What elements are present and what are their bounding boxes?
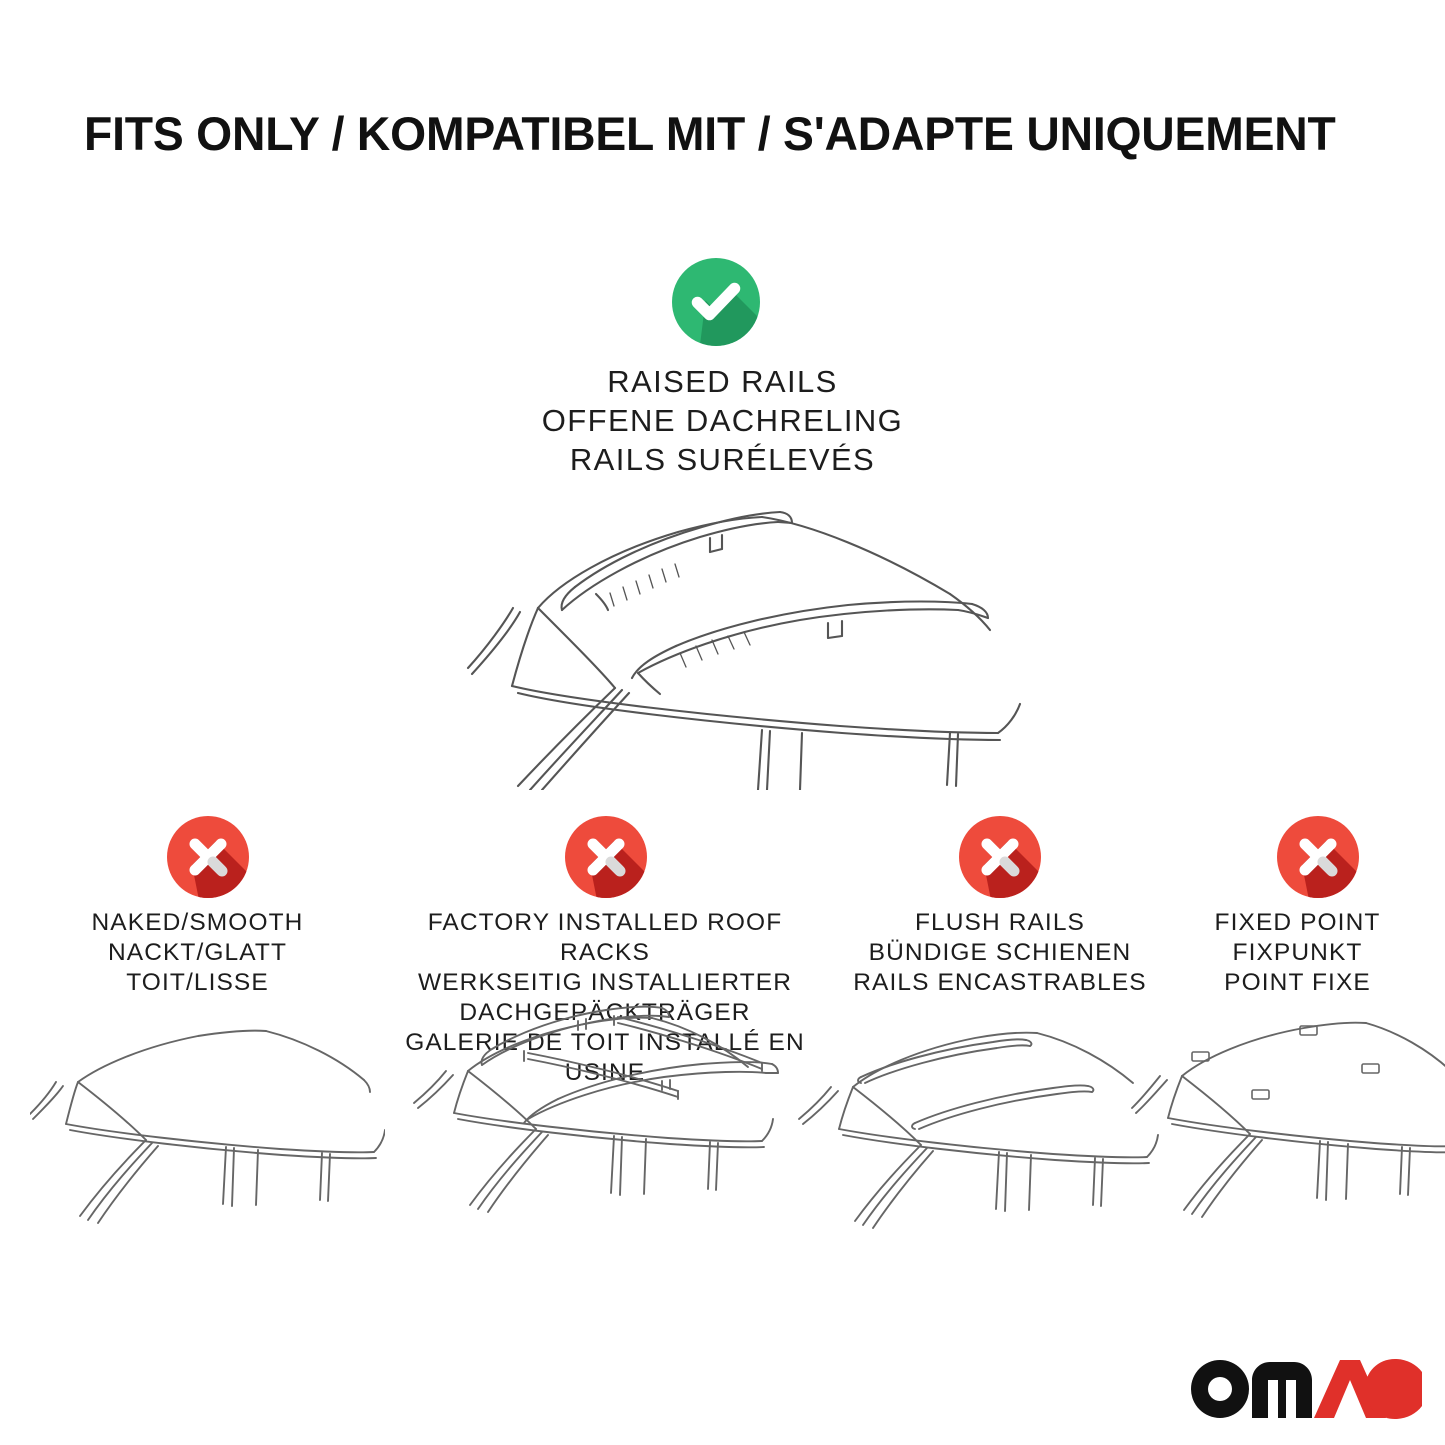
x-circle-icon — [1276, 815, 1360, 899]
x-circle-icon — [958, 815, 1042, 899]
option-label-fr: POINT FIXE — [1160, 968, 1435, 998]
option-label-de-1: WERKSEITIG INSTALLIERTER — [385, 968, 825, 998]
x-circle-icon — [564, 815, 648, 899]
option-label-fr: TOIT/LISSE — [20, 968, 375, 998]
check-circle-icon — [671, 257, 761, 347]
compatible-label-group: RAISED RAILS OFFENE DACHRELING RAILS SUR… — [445, 362, 1000, 479]
option-label-en: FLUSH RAILS — [825, 908, 1175, 938]
logo-letter-o — [1191, 1360, 1249, 1418]
compatible-label-fr: RAILS SURÉLEVÉS — [445, 440, 1000, 479]
option-label-group: FIXED POINT FIXPUNKT POINT FIXE — [1160, 908, 1435, 998]
option-label-en: FIXED POINT — [1160, 908, 1435, 938]
car-roof-fixed-point-illustration — [1130, 1010, 1445, 1240]
car-roof-raised-rails-illustration — [410, 490, 1035, 790]
x-circle-icon — [166, 815, 250, 899]
option-label-group: FLUSH RAILS BÜNDIGE SCHIENEN RAILS ENCAS… — [825, 908, 1175, 998]
car-roof-flush-rails-illustration — [795, 1015, 1165, 1245]
option-label-de: BÜNDIGE SCHIENEN — [825, 938, 1175, 968]
car-roof-naked-smooth-illustration — [30, 1020, 385, 1235]
option-label-de: FIXPUNKT — [1160, 938, 1435, 968]
option-label-en: NAKED/SMOOTH — [20, 908, 375, 938]
logo-letter-c — [1365, 1359, 1422, 1419]
page-title: FITS ONLY / KOMPATIBEL MIT / S'ADAPTE UN… — [84, 108, 1347, 164]
omac-logo — [1190, 1358, 1422, 1420]
compatible-label-en: RAISED RAILS — [445, 362, 1000, 401]
compatible-label-de: OFFENE DACHRELING — [445, 401, 1000, 440]
option-label-group: NAKED/SMOOTH NACKT/GLATT TOIT/LISSE — [20, 908, 375, 998]
option-label-en: FACTORY INSTALLED ROOF RACKS — [385, 908, 825, 968]
option-label-de: NACKT/GLATT — [20, 938, 375, 968]
car-roof-factory-roof-racks-illustration — [410, 1005, 780, 1235]
option-label-fr: RAILS ENCASTRABLES — [825, 968, 1175, 998]
logo-letter-m — [1252, 1362, 1312, 1418]
compatibility-infographic: FITS ONLY / KOMPATIBEL MIT / S'ADAPTE UN… — [0, 0, 1445, 1445]
